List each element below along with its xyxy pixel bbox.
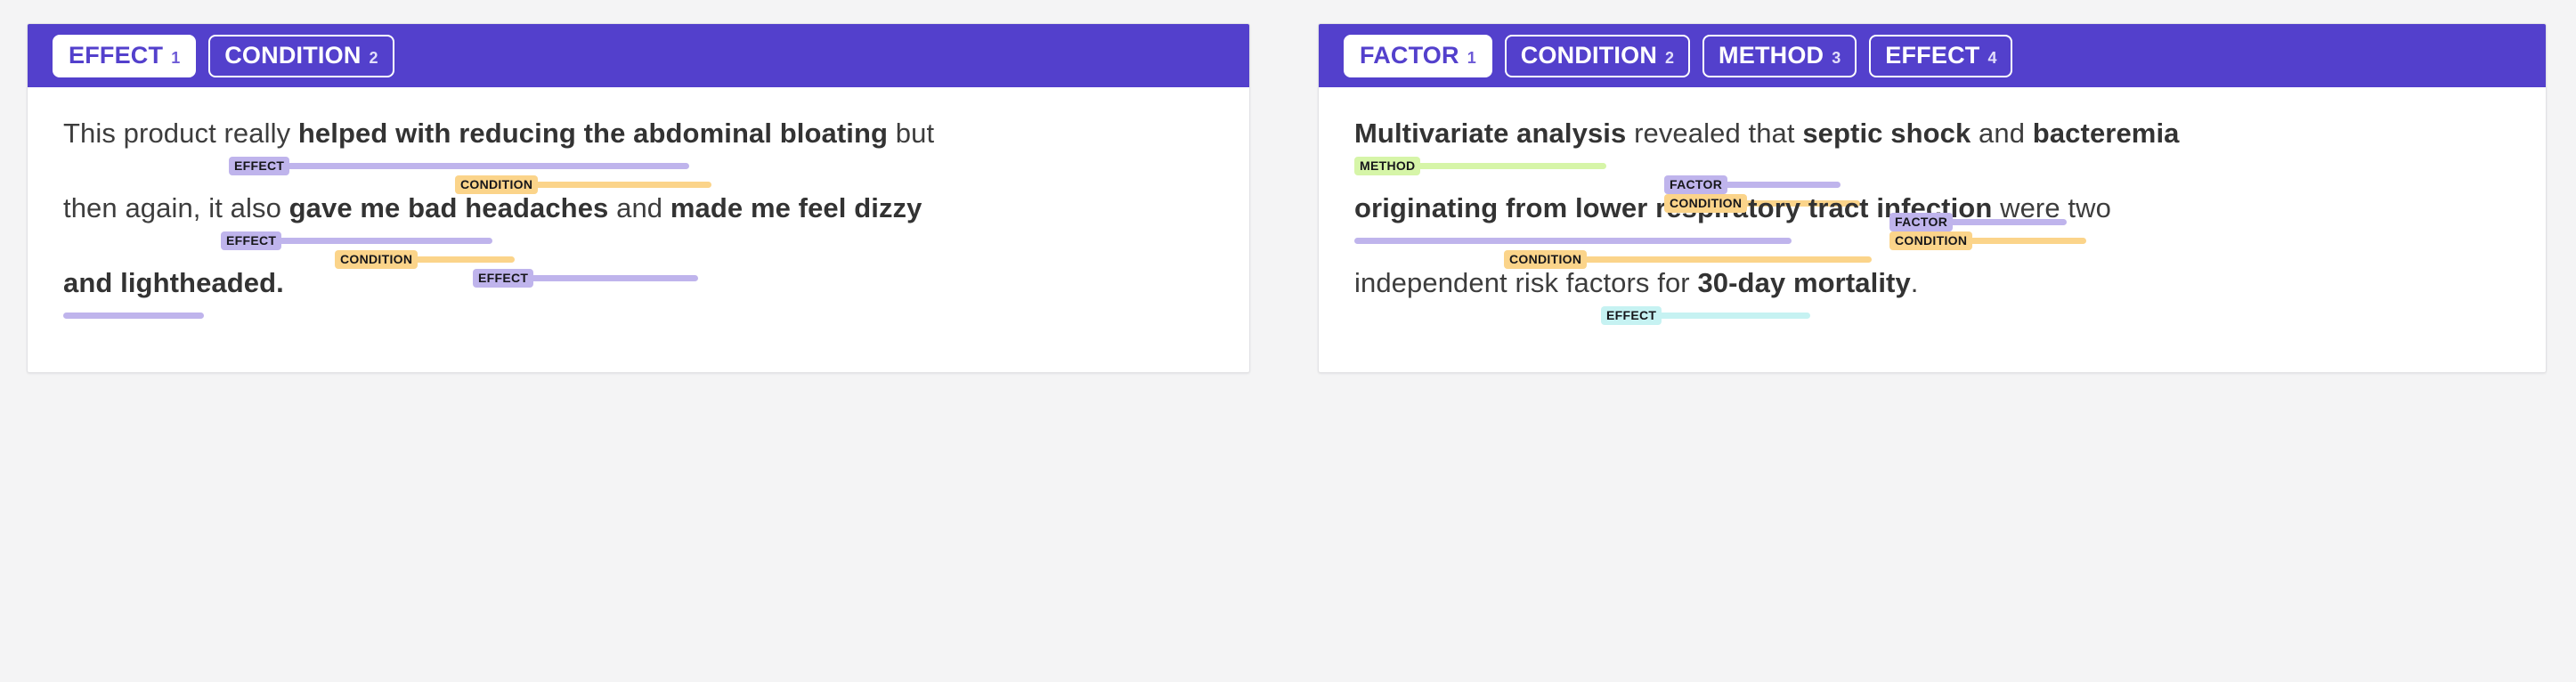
annotation-underline — [287, 163, 689, 169]
line-text: This product really helped with reducing… — [63, 118, 1214, 150]
annotated-text-right: Multivariate analysis revealed that sept… — [1319, 87, 2546, 372]
plain-text: then again, it also — [63, 192, 289, 223]
text-line: Multivariate analysis revealed that sept… — [1354, 118, 2510, 192]
tab-label: METHOD — [1719, 44, 1824, 68]
line-text: independent risk factors for 30-day mort… — [1354, 267, 2510, 300]
line-text: and lightheaded. — [63, 267, 1214, 300]
entity-tab-bar-left: EFFECT1CONDITION2 — [28, 24, 1249, 87]
annotation-underline — [415, 256, 515, 263]
entity-mention[interactable]: bacteremia — [2033, 118, 2180, 149]
entity-mention[interactable]: and lightheaded. — [63, 267, 284, 298]
annotated-text-left: This product really helped with reducing… — [28, 87, 1249, 372]
panels-board: EFFECT1CONDITION2 This product really he… — [0, 0, 2576, 373]
annotation-underline — [1659, 313, 1810, 319]
annotation-span[interactable]: CONDITION — [335, 250, 515, 268]
annotation-span[interactable]: CONDITION — [455, 175, 711, 193]
annotation-underline — [535, 182, 711, 188]
plain-text: independent risk factors for — [1354, 267, 1697, 298]
annotation-label[interactable]: CONDITION — [1889, 231, 1972, 250]
annotation-label[interactable]: EFFECT — [473, 269, 533, 288]
tab-effect[interactable]: EFFECT1 — [53, 35, 196, 77]
annotation-span[interactable]: EFFECT — [221, 231, 492, 249]
tab-count-badge: 2 — [370, 50, 378, 66]
annotation-underline — [1725, 182, 1841, 188]
tab-method[interactable]: METHOD3 — [1702, 35, 1857, 77]
annotation-label[interactable]: CONDITION — [335, 250, 418, 269]
plain-text: revealed that — [1626, 118, 1802, 149]
tab-label: FACTOR — [1360, 44, 1459, 68]
tab-condition[interactable]: CONDITION2 — [1505, 35, 1690, 77]
tab-factor[interactable]: FACTOR1 — [1344, 35, 1492, 77]
annotation-span[interactable] — [63, 306, 204, 324]
tab-count-badge: 2 — [1665, 50, 1674, 66]
tab-label: CONDITION — [224, 44, 361, 68]
annotation-label[interactable]: METHOD — [1354, 157, 1420, 175]
plain-text: were two — [1992, 192, 2111, 223]
annotation-label[interactable]: EFFECT — [229, 157, 289, 175]
annotation-span[interactable]: CONDITION — [1504, 250, 1872, 268]
annotation-label[interactable]: EFFECT — [221, 231, 281, 250]
annotation-underline — [1584, 256, 1872, 263]
line-text: Multivariate analysis revealed that sept… — [1354, 118, 2510, 150]
line-text: then again, it also gave me bad headache… — [63, 192, 1214, 225]
annotation-label[interactable]: FACTOR — [1889, 213, 1953, 231]
annotation-span[interactable] — [1354, 231, 1792, 249]
annotation-card-right: FACTOR1CONDITION2METHOD3EFFECT4 Multivar… — [1318, 23, 2547, 373]
entity-mention[interactable]: 30-day mortality — [1697, 267, 1910, 298]
annotation-card-left: EFFECT1CONDITION2 This product really he… — [27, 23, 1250, 373]
tab-effect[interactable]: EFFECT4 — [1869, 35, 2012, 77]
annotation-underline — [1418, 163, 1606, 169]
annotation-label[interactable]: FACTOR — [1664, 175, 1727, 194]
entity-mention[interactable]: made me feel dizzy — [670, 192, 922, 223]
annotation-label[interactable]: CONDITION — [1504, 250, 1587, 269]
entity-mention[interactable]: septic shock — [1802, 118, 1971, 149]
tab-label: EFFECT — [69, 44, 163, 68]
tab-count-badge: 3 — [1832, 50, 1841, 66]
tab-count-badge: 1 — [171, 50, 180, 66]
annotation-underline — [63, 313, 204, 319]
text-line: independent risk factors for 30-day mort… — [1354, 267, 2510, 331]
tab-count-badge: 1 — [1467, 50, 1476, 66]
plain-text: . — [1911, 267, 1919, 298]
annotation-label[interactable]: EFFECT — [1601, 306, 1662, 325]
entity-mention[interactable]: helped with reducing the abdominal bloat… — [298, 118, 888, 149]
annotation-underline — [279, 238, 492, 244]
annotation-span[interactable]: FACTOR — [1664, 175, 1841, 193]
tab-condition[interactable]: CONDITION2 — [208, 35, 394, 77]
annotation-span[interactable]: METHOD — [1354, 157, 1606, 175]
entity-tab-bar-right: FACTOR1CONDITION2METHOD3EFFECT4 — [1319, 24, 2546, 87]
tab-count-badge: 4 — [1987, 50, 1996, 66]
annotation-label[interactable]: CONDITION — [455, 175, 538, 194]
entity-mention[interactable]: gave me bad headaches — [289, 192, 609, 223]
tab-label: CONDITION — [1521, 44, 1657, 68]
annotation-span[interactable]: EFFECT — [1601, 306, 1810, 324]
annotation-underline — [1354, 238, 1792, 244]
plain-text: and — [608, 192, 670, 223]
tab-label: EFFECT — [1885, 44, 1979, 68]
plain-text: and — [1971, 118, 2032, 149]
annotation-span[interactable]: EFFECT — [229, 157, 689, 175]
text-line: and lightheaded. — [63, 267, 1214, 331]
annotation-label[interactable]: CONDITION — [1664, 194, 1747, 213]
entity-mention[interactable]: Multivariate analysis — [1354, 118, 1626, 149]
plain-text: but — [888, 118, 934, 149]
text-line: then again, it also gave me bad headache… — [63, 192, 1214, 267]
plain-text: This product really — [63, 118, 298, 149]
text-line: This product really helped with reducing… — [63, 118, 1214, 192]
